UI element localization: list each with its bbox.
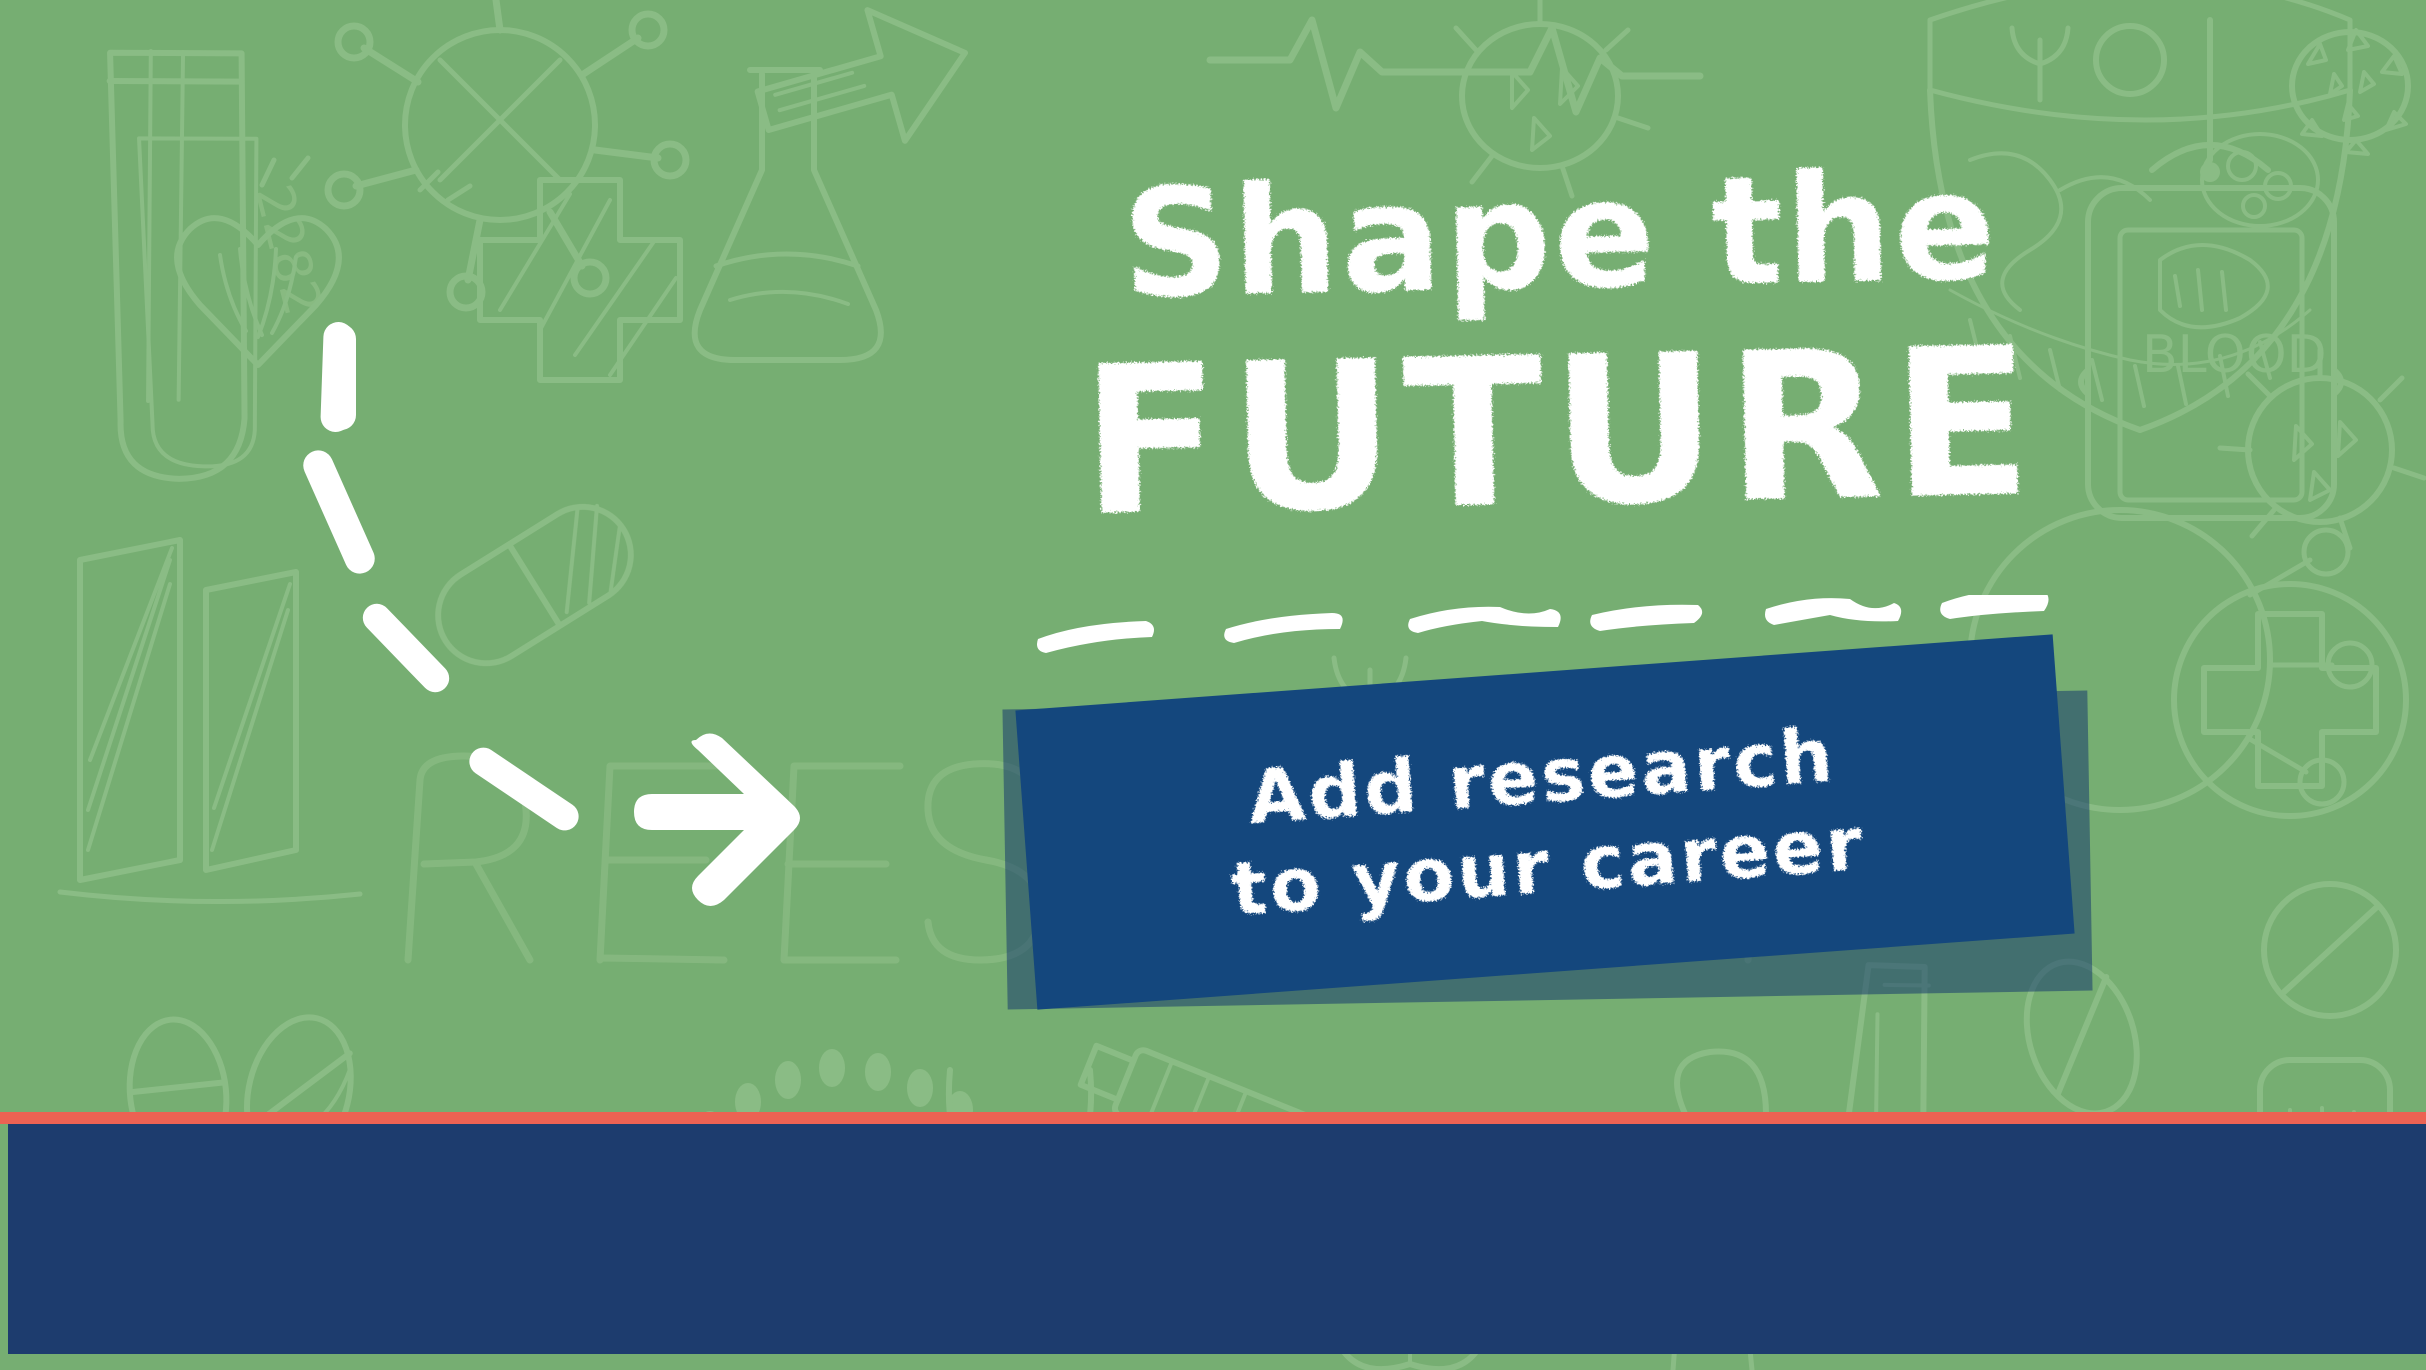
headline-shape-the-text: Shape the [1121,152,2000,320]
headline-line-2: FUTURE [1000,330,2120,536]
footer-bar: NIHR National Institute for Health and C… [8,1124,2426,1354]
svg-text:BLOOD: BLOOD [2142,325,2327,385]
headline-future-text: FUTURE [1079,321,2042,546]
curved-dashed-arrow-icon [280,300,860,940]
headline-line-1: Shape the [1000,160,2120,311]
accent-stripe [0,1112,2426,1124]
poster-canvas: 2282 [0,0,2426,1370]
